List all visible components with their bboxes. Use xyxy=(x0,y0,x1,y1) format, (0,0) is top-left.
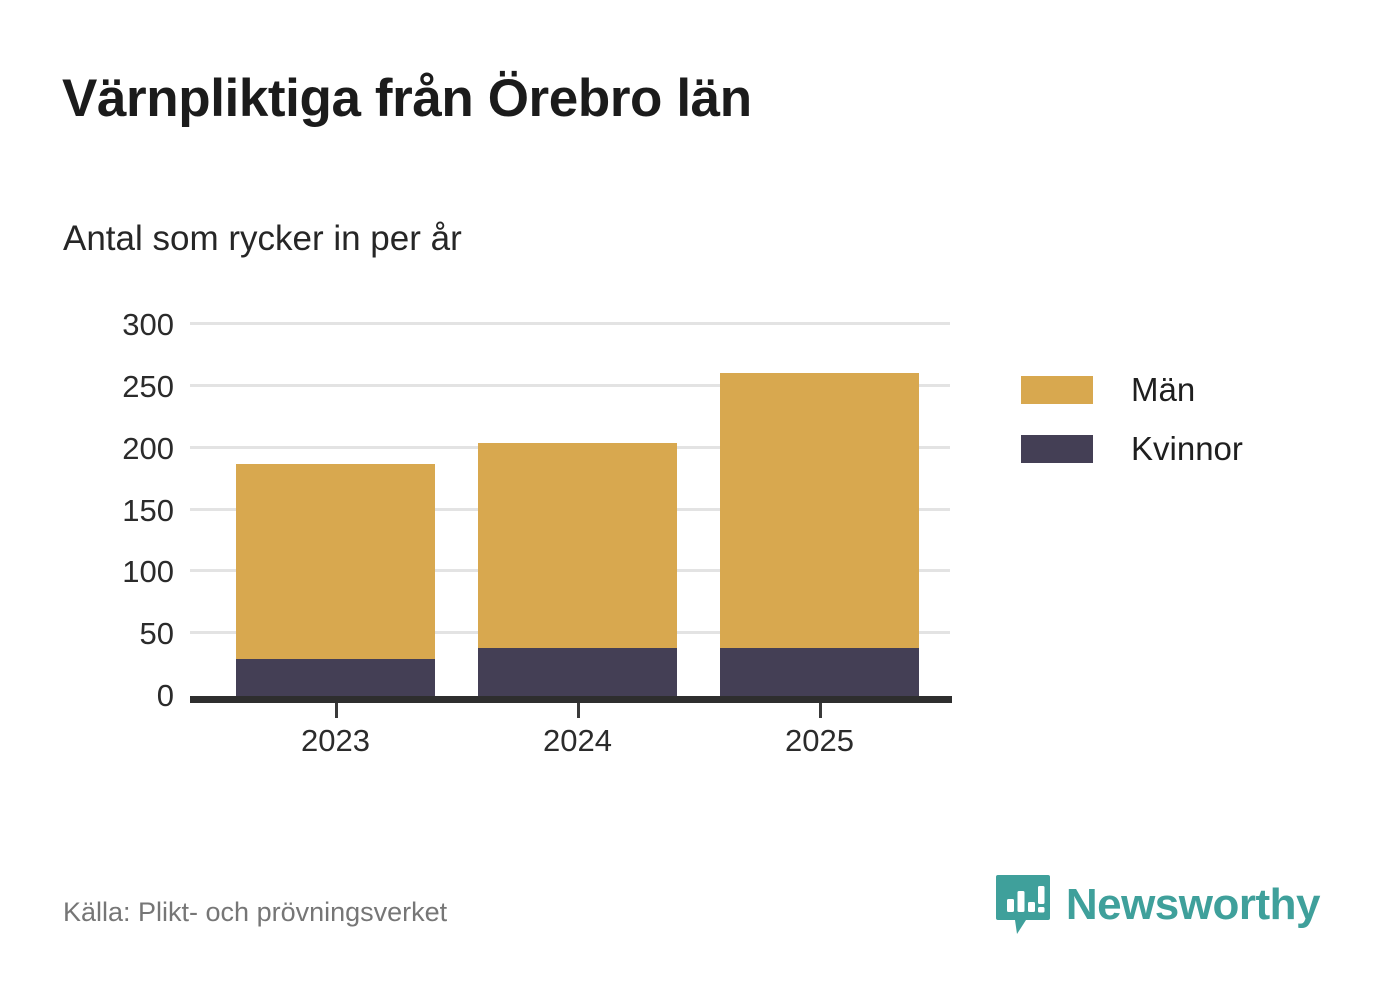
x-tick xyxy=(577,703,580,718)
chart-legend: MänKvinnor xyxy=(1021,362,1243,480)
y-tick-label: 0 xyxy=(157,678,174,714)
bar-chart-speech-bubble-icon xyxy=(994,873,1052,937)
legend-label: Män xyxy=(1131,371,1195,409)
legend-swatch xyxy=(1021,435,1093,463)
bar-group[interactable] xyxy=(720,305,919,705)
y-tick-label: 50 xyxy=(140,616,174,652)
y-tick-label: 250 xyxy=(122,369,174,405)
y-tick-label: 100 xyxy=(122,554,174,590)
newsworthy-logo: Newsworthy xyxy=(994,873,1320,937)
chart-bars xyxy=(190,305,950,705)
x-tick xyxy=(335,703,338,718)
brand-name: Newsworthy xyxy=(1066,883,1320,927)
legend-label: Kvinnor xyxy=(1131,430,1243,468)
legend-item[interactable]: Män xyxy=(1021,362,1243,418)
legend-swatch xyxy=(1021,376,1093,404)
y-axis-labels: 050100150200250300 xyxy=(96,305,174,705)
y-tick-label: 150 xyxy=(122,493,174,529)
bar-segment-man[interactable] xyxy=(236,464,435,659)
x-tick-label: 2024 xyxy=(543,723,612,759)
bar-segment-kvinnor[interactable] xyxy=(720,648,919,696)
x-tick xyxy=(819,703,822,718)
x-tick-label: 2025 xyxy=(785,723,854,759)
y-tick-label: 300 xyxy=(122,307,174,343)
bar-segment-man[interactable] xyxy=(720,373,919,648)
bar-group[interactable] xyxy=(478,305,677,705)
bar-group[interactable] xyxy=(236,305,435,705)
x-tick-label: 2023 xyxy=(301,723,370,759)
source-note: Källa: Plikt- och prövningsverket xyxy=(63,897,447,928)
chart-plot-area: 050100150200250300 202320242025 xyxy=(0,0,1382,999)
legend-item[interactable]: Kvinnor xyxy=(1021,421,1243,477)
bar-segment-man[interactable] xyxy=(478,443,677,648)
y-tick-label: 200 xyxy=(122,431,174,467)
bar-segment-kvinnor[interactable] xyxy=(236,659,435,696)
bar-segment-kvinnor[interactable] xyxy=(478,648,677,696)
x-axis-line xyxy=(190,696,952,703)
